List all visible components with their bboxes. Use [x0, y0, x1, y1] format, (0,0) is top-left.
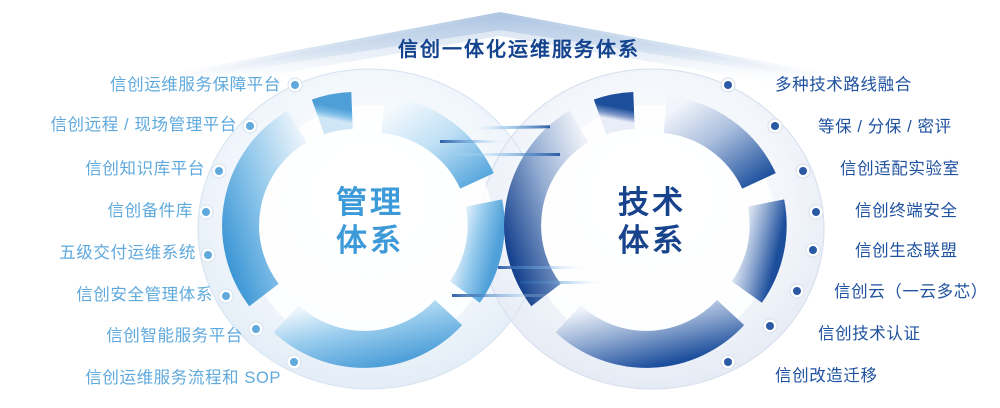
dot	[721, 355, 735, 369]
dot	[212, 164, 226, 178]
left-center-line-1: 管理	[300, 184, 440, 222]
page-title: 信创一体化运维服务体系	[398, 33, 640, 62]
dot	[288, 78, 302, 92]
dot	[809, 205, 823, 219]
right-label-5[interactable]: 信创生态联盟	[855, 243, 958, 260]
left-label-8[interactable]: 信创运维服务流程和 SOP	[85, 370, 281, 387]
left-label-1[interactable]: 信创运维服务保障平台	[110, 77, 281, 94]
right-center-line-1: 技术	[582, 184, 722, 222]
left-label-7[interactable]: 信创智能服务平台	[106, 328, 243, 345]
infographic-canvas: 信创一体化运维服务体系 管理 体系 技术 体系 信创运维服务保障平台 信创远程 …	[0, 0, 1000, 408]
speed-line-2	[440, 140, 510, 143]
left-label-4[interactable]: 信创备件库	[108, 203, 194, 220]
right-label-1[interactable]: 多种技术路线融合	[775, 77, 912, 94]
left-label-3[interactable]: 信创知识库平台	[85, 161, 205, 178]
dot	[201, 248, 215, 262]
left-label-2[interactable]: 信创远程 / 现场管理平台	[50, 117, 237, 134]
dot	[287, 355, 301, 369]
dot	[806, 243, 820, 257]
speed-line-5	[520, 281, 606, 284]
right-label-6[interactable]: 信创云（一云多芯）	[834, 284, 988, 301]
right-label-4[interactable]: 信创终端安全	[855, 203, 958, 220]
right-label-7[interactable]: 信创技术认证	[818, 326, 921, 343]
dot	[249, 322, 263, 336]
speed-line-3	[452, 153, 560, 156]
dot	[199, 205, 213, 219]
left-ring-center-label: 管理 体系	[300, 184, 440, 260]
right-center-line-2: 体系	[582, 222, 722, 260]
dot	[763, 319, 777, 333]
dot	[721, 78, 735, 92]
left-label-6[interactable]: 信创安全管理体系	[76, 287, 213, 304]
right-label-8[interactable]: 信创改造迁移	[775, 368, 878, 385]
dot	[768, 119, 782, 133]
right-label-2[interactable]: 等保 / 分保 / 密评	[818, 119, 952, 136]
right-label-3[interactable]: 信创适配实验室	[840, 161, 960, 178]
dot	[796, 164, 810, 178]
left-label-5[interactable]: 五级交付运维系统	[59, 245, 196, 262]
speed-line-6	[452, 294, 560, 297]
dot	[790, 284, 804, 298]
speed-line-4	[498, 266, 590, 269]
left-center-line-2: 体系	[300, 222, 440, 260]
dot	[219, 289, 233, 303]
right-ring-center-label: 技术 体系	[582, 184, 722, 260]
dot	[243, 119, 257, 133]
